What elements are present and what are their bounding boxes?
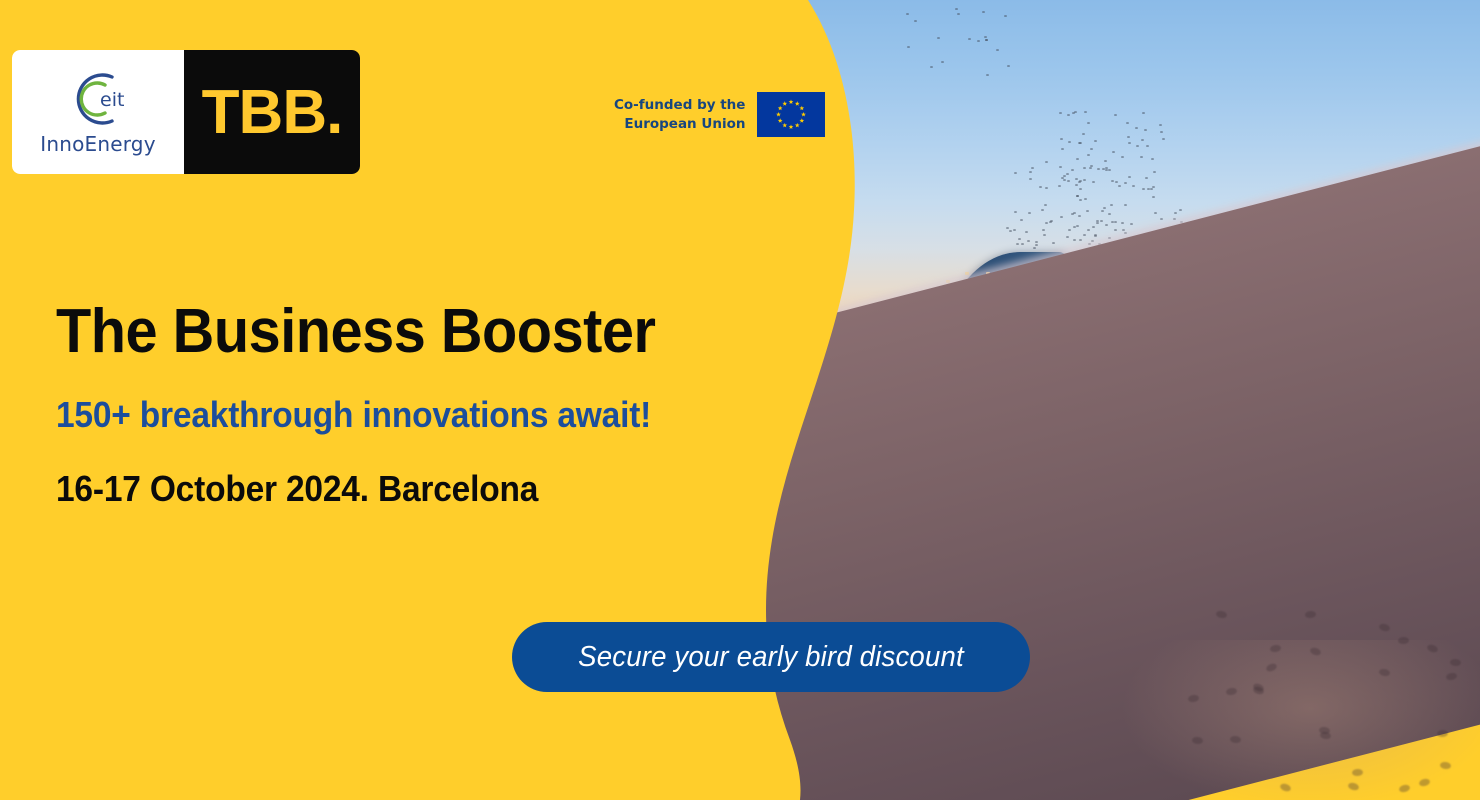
event-dateline: 16-17 October 2024. Barcelona (56, 468, 538, 510)
eit-circle-icon: eit (60, 68, 136, 130)
subheadline: 150+ breakthrough innovations await! (56, 394, 651, 436)
sand-glow (1120, 640, 1480, 800)
eit-innoenergy-logo: eit InnoEnergy (12, 50, 184, 174)
logo-lockup: eit InnoEnergy TBB. (12, 50, 360, 174)
page-title: The Business Booster (56, 296, 655, 367)
eu-caption-line-2: European Union (614, 115, 745, 133)
tbb-logo: TBB. (184, 50, 360, 174)
eu-flag-icon (757, 92, 825, 137)
early-bird-discount-button[interactable]: Secure your early bird discount (512, 622, 1030, 692)
tbb-wordmark: TBB. (202, 77, 343, 148)
eu-funding-caption: Co-funded by the European Union (614, 96, 745, 132)
promo-banner: eit InnoEnergy TBB. Co-funded by the Eur… (0, 0, 1480, 800)
cta-label: Secure your early bird discount (578, 641, 964, 674)
eu-funding-badge: Co-funded by the European Union (614, 92, 825, 137)
innoenergy-wordmark: InnoEnergy (40, 132, 156, 156)
eu-caption-line-1: Co-funded by the (614, 96, 745, 114)
eit-mark-text: eit (100, 89, 124, 111)
